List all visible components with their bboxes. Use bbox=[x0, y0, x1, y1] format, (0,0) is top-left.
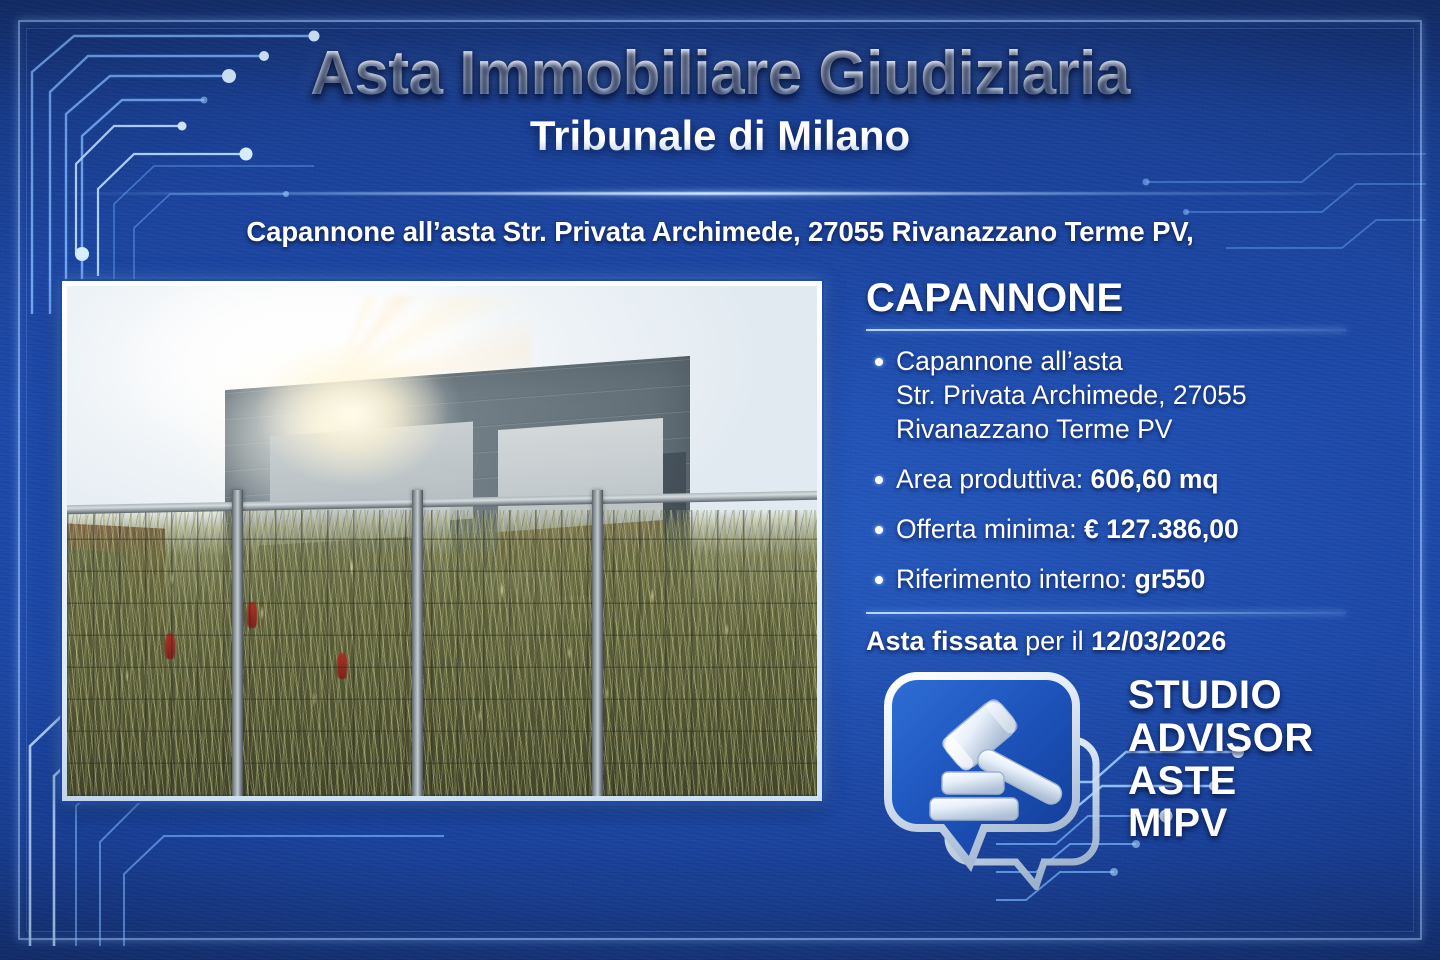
page-subtitle: Tribunale di Milano bbox=[0, 112, 1440, 160]
address-bullet-line-2: Str. Privata Archimede, 27055 bbox=[896, 379, 1346, 413]
auction-date-value: 12/03/2026 bbox=[1091, 626, 1226, 656]
reference-label: Riferimento interno: bbox=[896, 564, 1135, 594]
photo-sun-flare bbox=[217, 312, 487, 516]
facts-list: Capannone all’asta Str. Privata Archimed… bbox=[866, 345, 1346, 596]
brand-wordmark: STUDIO ADVISOR ASTE MIPV bbox=[1128, 674, 1314, 845]
details-panel: CAPANNONE Capannone all’asta Str. Privat… bbox=[866, 276, 1346, 657]
auction-date-middle: per il bbox=[1018, 626, 1092, 656]
property-photo-frame bbox=[62, 281, 822, 801]
photo-fence-post bbox=[592, 490, 603, 796]
photo-fence-post bbox=[412, 490, 423, 796]
photo-fence-post bbox=[232, 490, 243, 796]
panel-divider-bottom bbox=[866, 612, 1346, 614]
panel-divider-top bbox=[866, 329, 1346, 331]
property-photo bbox=[67, 286, 817, 796]
brand-line-3: ASTE bbox=[1128, 760, 1314, 803]
auction-date-line: Asta fissata per il 12/03/2026 bbox=[866, 626, 1346, 657]
list-item-minimum-offer: Offerta minima: € 127.386,00 bbox=[866, 513, 1346, 547]
brand-logo: STUDIO ADVISOR ASTE MIPV bbox=[880, 668, 1340, 893]
minimum-offer-value: € 127.386,00 bbox=[1084, 514, 1239, 544]
address-line: Capannone all’asta Str. Privata Archimed… bbox=[0, 216, 1440, 248]
reference-value: gr550 bbox=[1135, 564, 1206, 594]
list-item-reference: Riferimento interno: gr550 bbox=[866, 563, 1346, 597]
brand-line-2: ADVISOR bbox=[1128, 717, 1314, 760]
minimum-offer-label: Offerta minima: bbox=[896, 514, 1084, 544]
auction-date-prefix: Asta fissata bbox=[866, 626, 1018, 656]
address-bullet-line-3: Rivanazzano Terme PV bbox=[896, 413, 1346, 447]
brand-line-4: MIPV bbox=[1128, 802, 1314, 845]
list-item-address: Capannone all’asta Str. Privata Archimed… bbox=[866, 345, 1346, 447]
panel-heading: CAPANNONE bbox=[866, 276, 1346, 321]
brand-line-1: STUDIO bbox=[1128, 674, 1314, 717]
area-label: Area produttiva: bbox=[896, 464, 1090, 494]
header: Asta Immobiliare Giudiziaria Tribunale d… bbox=[0, 42, 1440, 160]
photo-mesh-fence bbox=[67, 510, 817, 796]
area-value: 606,60 mq bbox=[1090, 464, 1218, 494]
page-title: Asta Immobiliare Giudiziaria bbox=[0, 42, 1440, 106]
list-item-area: Area produttiva: 606,60 mq bbox=[866, 463, 1346, 497]
poster-canvas: Asta Immobiliare Giudiziaria Tribunale d… bbox=[0, 0, 1440, 960]
gavel-speech-bubble-icon bbox=[880, 668, 1120, 890]
header-light-streak bbox=[40, 192, 1400, 195]
address-bullet-line-1: Capannone all’asta bbox=[896, 346, 1123, 376]
